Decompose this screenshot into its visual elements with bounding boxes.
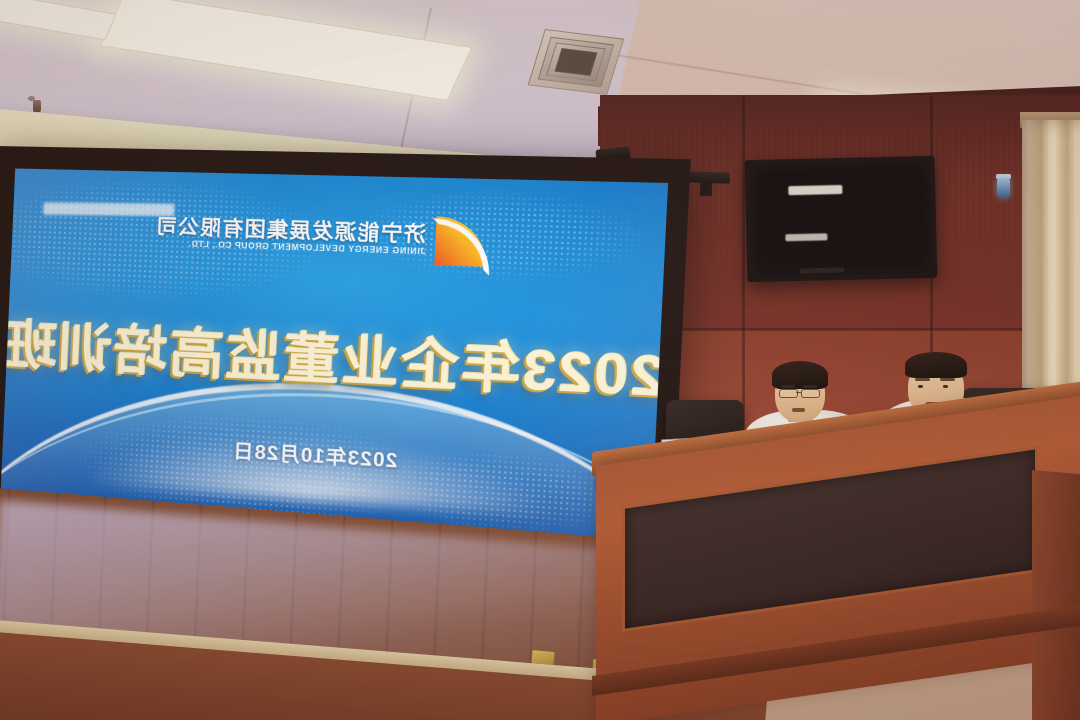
jining-energy-fan-icon (435, 216, 489, 267)
person-right-eye-r (943, 385, 948, 388)
person-left-brow-l (781, 385, 795, 388)
slide-date: 2023年10月28日 (232, 436, 398, 474)
blue-emergency-beacon (997, 178, 1010, 198)
person-left-glasses-r (801, 389, 820, 398)
rostrum-side-panel (1032, 470, 1080, 720)
ac-diffuser-vent (528, 29, 625, 95)
led-video-wall-screen[interactable]: 济宁能源发展集团有限公司 JINING ENERGY DEVELOPMENT G… (0, 168, 668, 544)
person-left-brow-r (803, 385, 817, 388)
company-logo-block: 济宁能源发展集团有限公司 JINING ENERGY DEVELOPMENT G… (154, 209, 489, 267)
person-right-eye-l (918, 385, 923, 388)
sprinkler-head (33, 100, 41, 112)
person-left-glasses-bridge (796, 392, 801, 393)
slide-content: 济宁能源发展集团有限公司 JINING ENERGY DEVELOPMENT G… (0, 168, 668, 544)
person-right-brow-l (915, 378, 930, 381)
photo-scene: 济宁能源发展集团有限公司 JINING ENERGY DEVELOPMENT G… (0, 0, 1080, 720)
screen-glare-strip (43, 203, 174, 217)
person-left-glasses-l (779, 389, 798, 398)
person-right-brow-r (940, 378, 955, 381)
projector-bracket-stem (700, 182, 712, 196)
person-right-hair (905, 352, 967, 378)
person-left-mouth (792, 408, 805, 412)
television-mount-foot (800, 268, 844, 274)
slide-title: 2023年企业董监高培训班 (1, 303, 667, 413)
wall-mounted-television[interactable] (745, 156, 938, 282)
